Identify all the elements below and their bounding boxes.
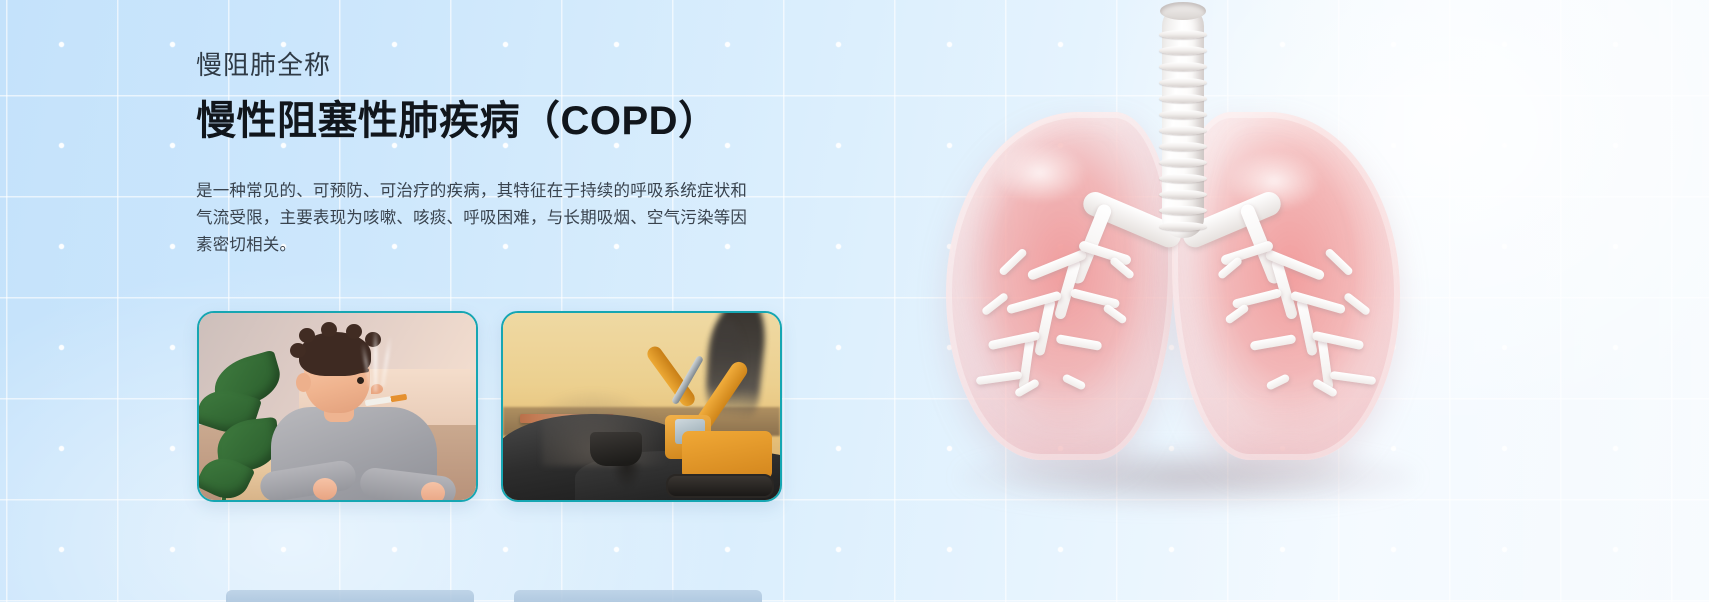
lung-highlight-left (992, 142, 1088, 204)
bottom-bar-left[interactable] (226, 590, 474, 602)
risk-factor-card-list (197, 311, 782, 502)
hero-description: 是一种常见的、可预防、可治疗的疾病，其特征在于持续的呼吸系统症状和气流受限，主要… (196, 178, 756, 259)
bottom-bar-right[interactable] (514, 590, 762, 602)
air-pollution-risk-card[interactable] (501, 311, 782, 502)
lungs-3d-illustration (900, 0, 1520, 552)
page-title: 慢性阻塞性肺疾病（COPD） (196, 96, 796, 146)
left-bronchial-tree (966, 202, 1166, 452)
hero-banner: 慢阻肺全称 慢性阻塞性肺疾病（COPD） 是一种常见的、可预防、可治疗的疾病，其… (0, 0, 1709, 602)
excavator-coal-pollution-photo (503, 313, 780, 500)
eyebrow-label: 慢阻肺全称 (196, 48, 796, 82)
smoking-risk-card[interactable] (197, 311, 478, 502)
excavator-bucket-icon (590, 432, 642, 466)
right-bronchial-tree (1186, 202, 1386, 452)
cigarette-smoker-illustration (199, 313, 476, 500)
bottom-bars (0, 590, 1709, 602)
hero-copy: 慢阻肺全称 慢性阻塞性肺疾病（COPD） 是一种常见的、可预防、可治疗的疾病，其… (196, 48, 796, 259)
